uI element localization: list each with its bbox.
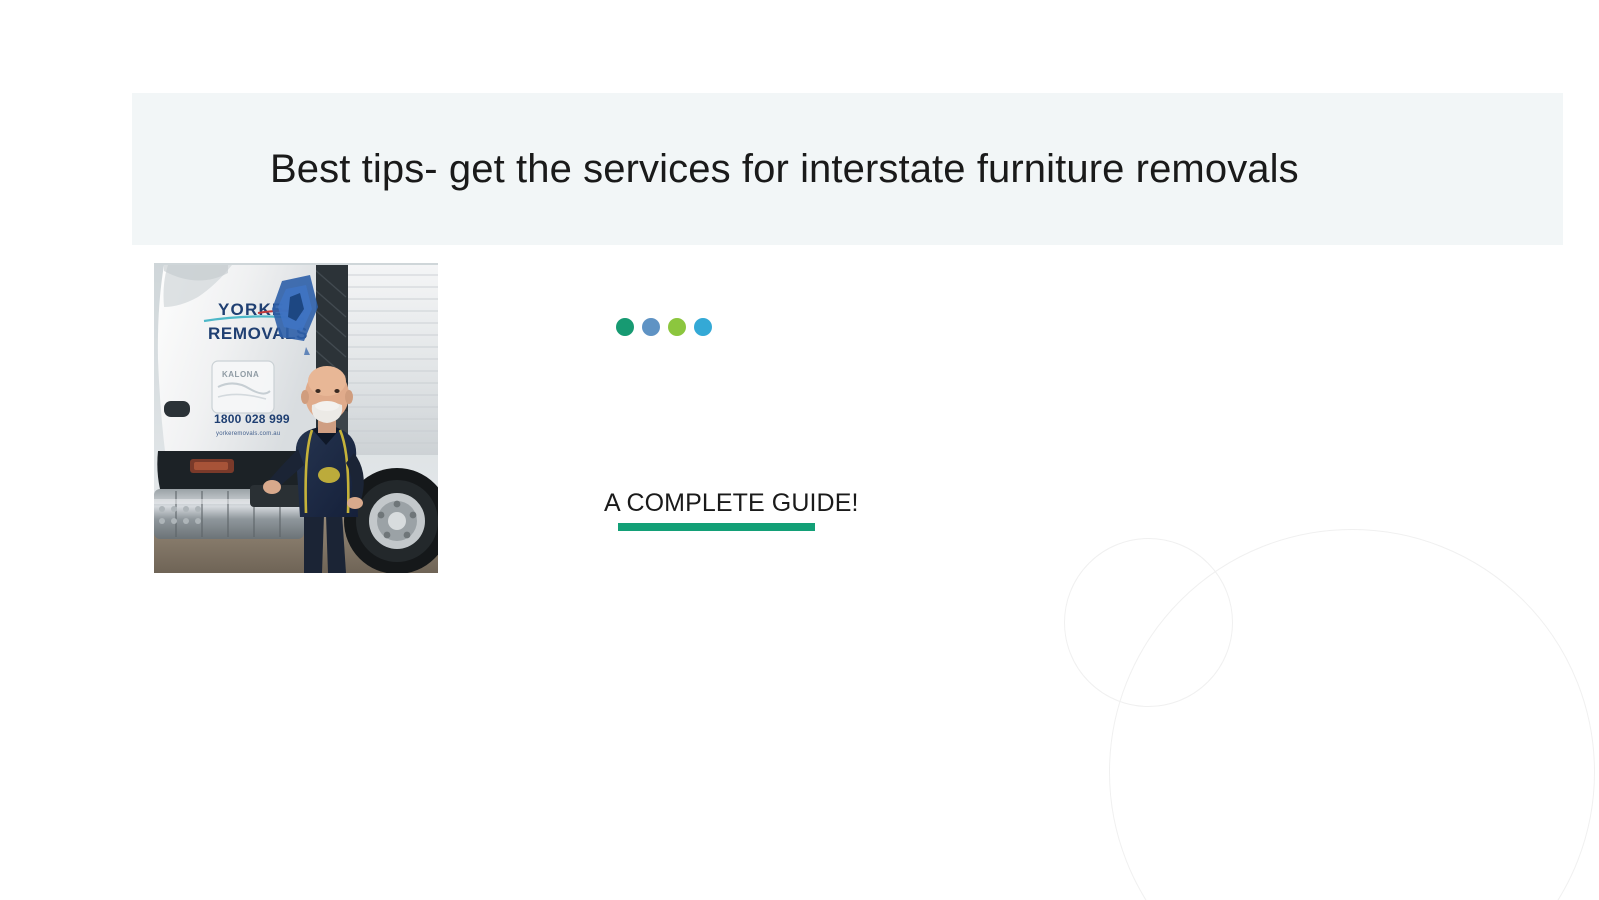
truck-photo-graphic: YORKE REMOVALS KALONA 1800 028 999 yorke… <box>154 263 438 573</box>
subtitle-underline <box>618 523 815 531</box>
truck-photo: YORKE REMOVALS KALONA 1800 028 999 yorke… <box>154 263 438 573</box>
page-title: Best tips- get the services for intersta… <box>132 145 1299 193</box>
dot-cyan-blue-icon <box>694 318 712 336</box>
title-band: Best tips- get the services for intersta… <box>132 93 1563 245</box>
dot-steel-blue-icon <box>642 318 660 336</box>
svg-text:KALONA: KALONA <box>222 370 259 379</box>
subtitle-block: A COMPLETE GUIDE! <box>604 488 1024 519</box>
dot-lime-green-icon <box>668 318 686 336</box>
svg-text:1800 028 999: 1800 028 999 <box>214 412 290 426</box>
decorative-circle-small-icon <box>1064 538 1233 707</box>
subtitle-text: A COMPLETE GUIDE! <box>604 488 1024 519</box>
svg-text:yorkeremovals.com.au: yorkeremovals.com.au <box>216 431 280 437</box>
decorative-circle-large-icon <box>1109 529 1595 900</box>
dot-row <box>616 318 712 336</box>
dot-teal-icon <box>616 318 634 336</box>
slide-canvas: Best tips- get the services for intersta… <box>0 0 1599 900</box>
